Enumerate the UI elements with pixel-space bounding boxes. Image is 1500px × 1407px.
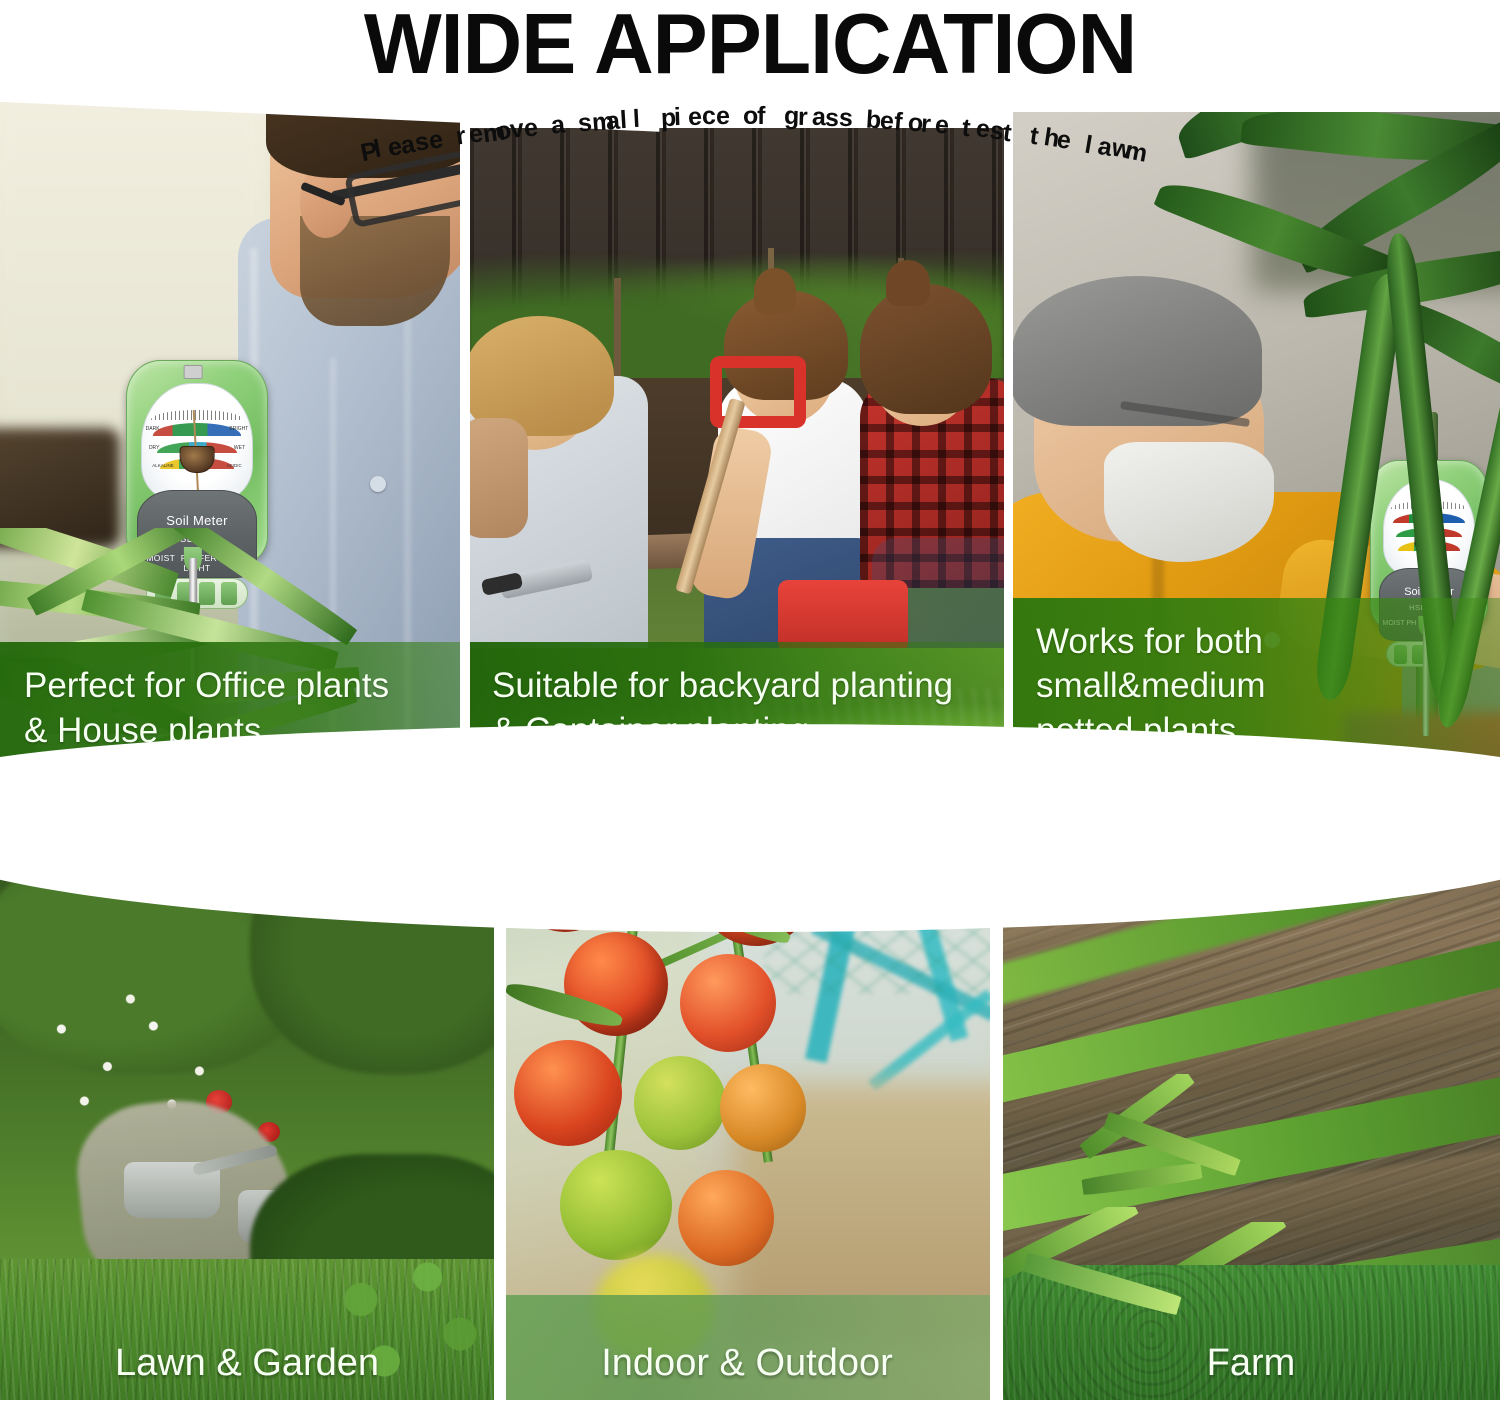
caption-line-2: & House plants: [24, 709, 460, 754]
wide-application-poster: DARK BRIGHT DRY WET ALKALINE ACIDIC Soil…: [0, 0, 1500, 1407]
meter-product-name: Soil Meter: [138, 513, 256, 528]
page-title: WIDE APPLICATION: [23, 2, 1478, 89]
panel-office-house-plants: DARK BRIGHT DRY WET ALKALINE ACIDIC Soil…: [0, 98, 460, 780]
photo-potted-plants: Soil Meter HSLGOVE MOIST PH FERTILITY LI…: [1012, 112, 1500, 780]
caption-small-medium-potted-plants: Works for both small&medium potted plant…: [1012, 598, 1500, 780]
photo-backyard-planting: Suitable for backyard planting & Contain…: [468, 128, 1004, 780]
photo-indoor-outdoor: Indoor & Outdoor: [504, 784, 990, 1407]
caption-line-1: Works for both small&medium: [1036, 620, 1500, 710]
caption-line-2: potted plants: [1036, 709, 1500, 754]
panel-indoor-outdoor: Indoor & Outdoor: [504, 784, 990, 1407]
top-edge-sweep-right: [626, 0, 1500, 100]
subtitle-char: [729, 102, 736, 131]
panel-lawn-garden: Lawn & Garden: [0, 854, 494, 1407]
panel-backyard-container-planting: Suitable for backyard planting & Contain…: [468, 128, 1004, 780]
photo-lawn-garden: Lawn & Garden: [0, 854, 494, 1407]
caption-line-1: Perfect for Office plants: [24, 664, 460, 709]
caption-indoor-outdoor: Indoor & Outdoor: [504, 1327, 990, 1403]
dial-arc-light: [153, 423, 240, 436]
dial-label-wet: WET: [234, 445, 245, 451]
subtitle-char: [770, 102, 777, 131]
dial-label-acidic: ACIDIC: [227, 463, 242, 468]
caption-line-1: Suitable for backyard planting: [492, 664, 1004, 709]
panel-farm: Farm: [1002, 824, 1500, 1407]
caption-backyard-container-planting: Suitable for backyard planting & Contain…: [468, 642, 1004, 780]
dial-label-dry: DRY: [149, 445, 159, 451]
photo-office-plants: DARK BRIGHT DRY WET ALKALINE ACIDIC Soil…: [0, 98, 460, 780]
caption-lawn-garden: Lawn & Garden: [0, 1327, 494, 1403]
subtitle-char: e: [715, 102, 729, 131]
caption-farm: Farm: [1002, 1327, 1500, 1403]
meter-dial-face: DARK BRIGHT DRY WET ALKALINE ACIDIC: [141, 383, 252, 499]
caption-office-house-plants: Perfect for Office plants & House plants: [0, 642, 460, 780]
meter-top-button[interactable]: [184, 365, 203, 379]
meter-movement-hub: [180, 446, 215, 473]
photo-farm: Farm: [1002, 824, 1500, 1407]
subtitle-char: f: [757, 102, 766, 131]
subtitle-char: o: [743, 102, 758, 131]
panel-small-medium-potted-plants: Soil Meter HSLGOVE MOIST PH FERTILITY LI…: [1012, 112, 1500, 780]
dial-label-bright: BRIGHT: [229, 426, 248, 432]
dial-label-alkaline: ALKALINE: [152, 463, 174, 468]
caption-line-2: & Container planting: [492, 709, 1004, 754]
dial-label-dark: DARK: [146, 426, 160, 432]
